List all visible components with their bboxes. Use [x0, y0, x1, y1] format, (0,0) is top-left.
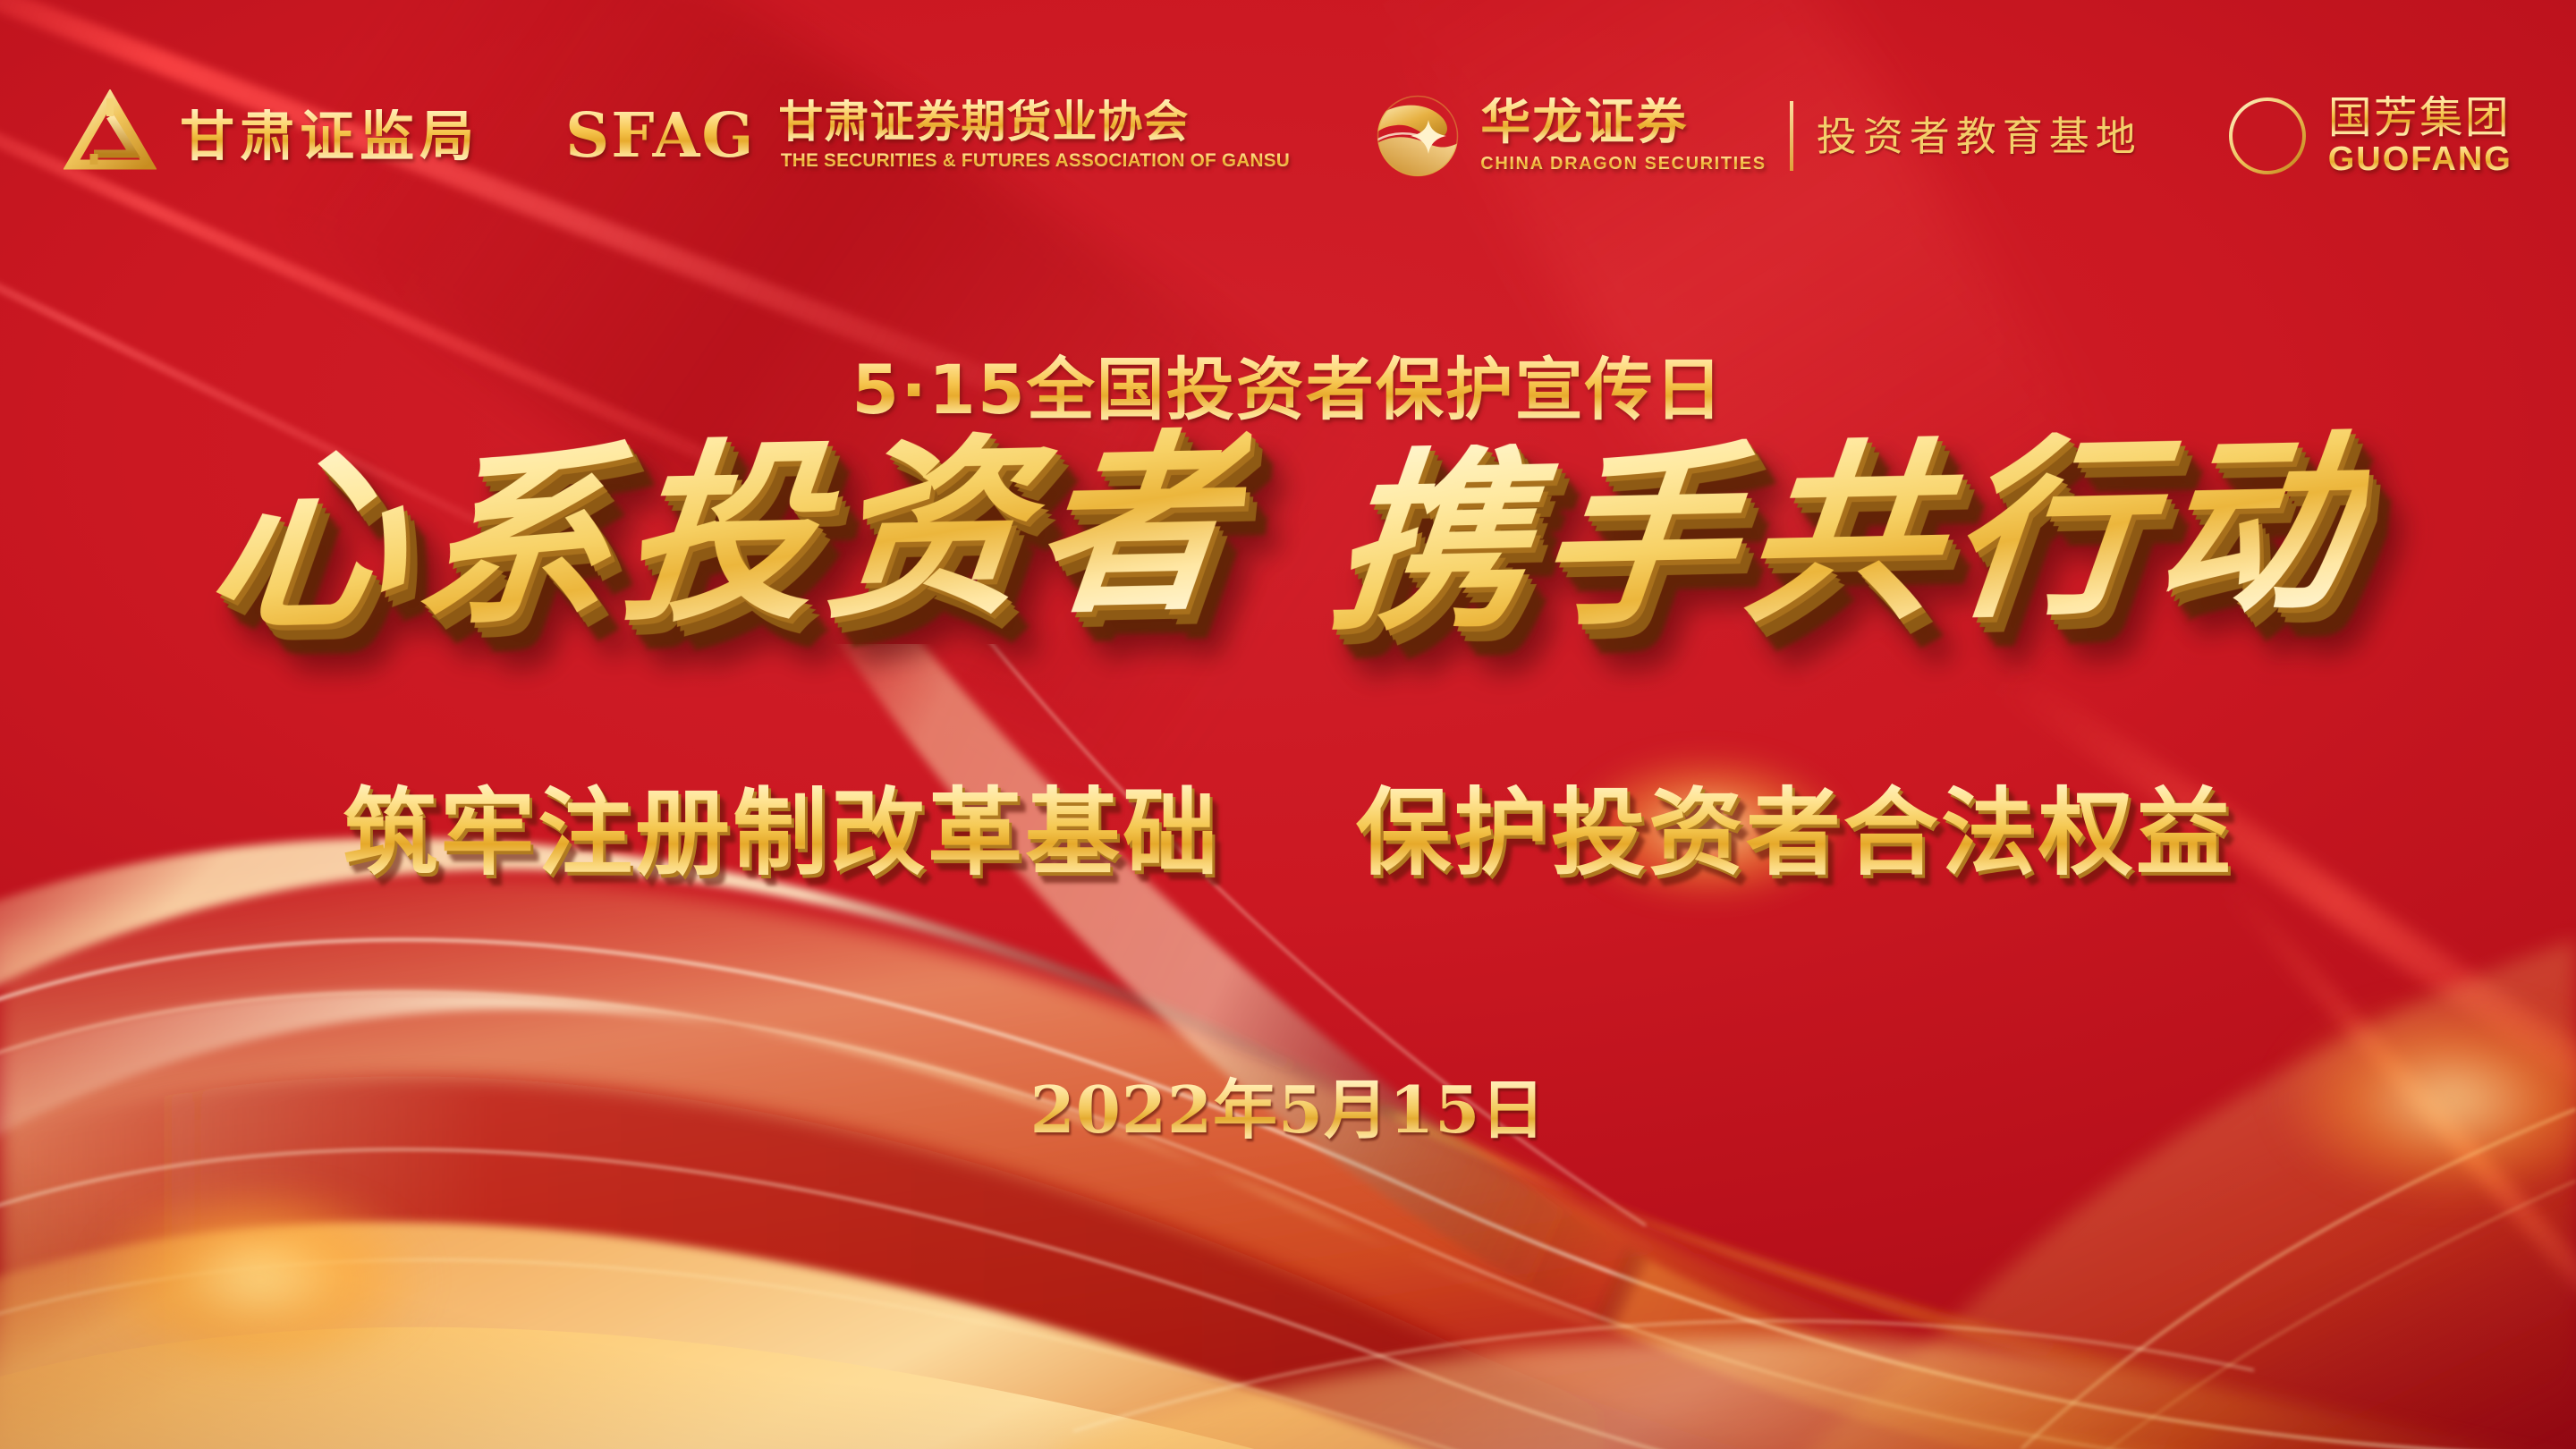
- investor-education-base-label: 投资者教育基地: [1817, 116, 2142, 157]
- main-headline: 心系投资者 携手共行动: [0, 436, 2576, 630]
- logo-china-dragon-text: 华龙证券 CHINA DRAGON SECURITIES: [1480, 97, 1766, 174]
- poster-canvas: 甘肃证监局 SFAG 甘肃证券期货业协会 THE SECURITIES & FU…: [0, 0, 2576, 1449]
- logo-china-dragon-cn: 华龙证券: [1480, 97, 1766, 148]
- logo-guofang-text: 国芳集团 GUOFANG: [2328, 96, 2512, 176]
- headline-right: 携手共行动: [1324, 426, 2375, 640]
- logo-sfag-abbr: SFAG: [565, 106, 755, 166]
- headline-subtitle: 筑牢注册制改革基础 保护投资者合法权益: [0, 756, 2576, 894]
- logo-china-dragon-en: CHINA DRAGON SECURITIES: [1480, 153, 1766, 174]
- logo-gansu-csrc-text: 甘肃证监局: [180, 109, 479, 164]
- subtitle-right: 保护投资者合法权益: [1356, 778, 2233, 888]
- logo-sfag: SFAG 甘肃证券期货业协会 THE SECURITIES & FUTURES …: [565, 79, 1292, 193]
- logo-china-dragon: 华龙证券 CHINA DRAGON SECURITIES 投资者教育基地: [1375, 79, 2141, 193]
- event-date-text: 2022年5月15日: [1030, 1072, 1546, 1148]
- sponsor-logo-bar: 甘肃证监局 SFAG 甘肃证券期货业协会 THE SECURITIES & FU…: [0, 79, 2576, 193]
- logo-divider: [1790, 101, 1793, 171]
- logo-sfag-text: 甘肃证券期货业协会 THE SECURITIES & FUTURES ASSOC…: [778, 99, 1292, 173]
- logo-gansu-csrc: 甘肃证监局: [64, 79, 479, 193]
- event-date: 2022年5月15日: [0, 1057, 2576, 1151]
- china-dragon-circle-icon: [1375, 93, 1461, 179]
- background-vignette: [0, 0, 2576, 1449]
- subtitle-left: 筑牢注册制改革基础: [343, 778, 1220, 888]
- logo-gansu-csrc-cn: 甘肃证监局: [180, 109, 479, 164]
- logo-guofang: 国芳集团 GUOFANG: [2224, 79, 2512, 193]
- headline-left: 心系投资者: [201, 426, 1252, 640]
- logo-sfag-en: THE SECURITIES & FUTURES ASSOCIATION OF …: [781, 149, 1290, 173]
- guofang-deer-circle-icon: [2224, 93, 2310, 179]
- logo-sfag-cn: 甘肃证券期货业协会: [778, 99, 1292, 145]
- csrc-penrose-triangle-icon: [64, 89, 157, 182]
- logo-guofang-en: GUOFANG: [2328, 142, 2512, 176]
- logo-guofang-cn: 国芳集团: [2328, 96, 2512, 140]
